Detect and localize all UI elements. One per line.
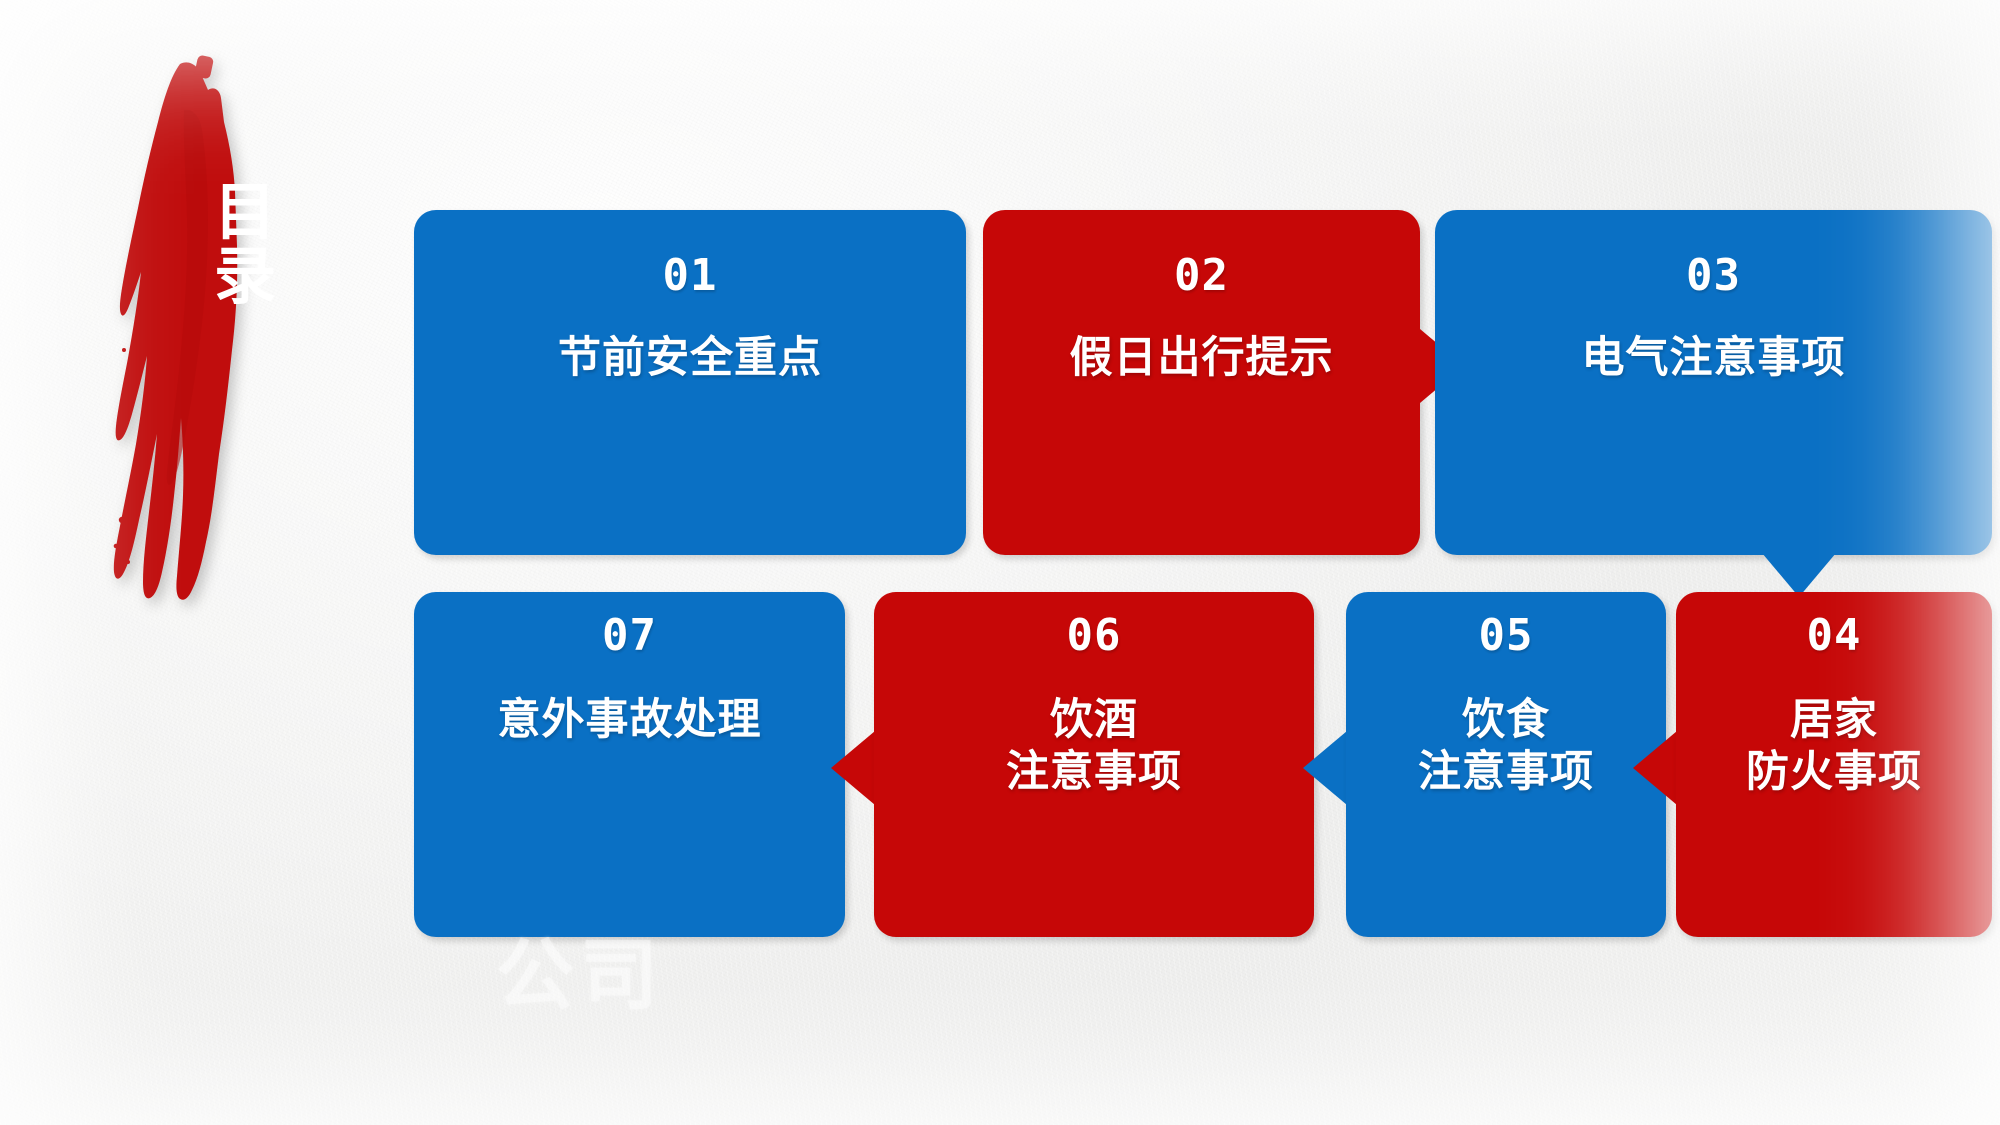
- brush-stroke-title-block: 目 录: [88, 50, 278, 610]
- toc-card-07-label: 意外事故处理: [498, 694, 762, 746]
- toc-card-04-number: 04: [1807, 614, 1862, 658]
- page-title-vertical: 目 录: [88, 128, 278, 358]
- toc-card-06[interactable]: 06 饮酒 注意事项: [874, 592, 1314, 937]
- toc-card-07-number: 07: [602, 614, 657, 658]
- toc-card-03-label: 电气注意事项: [1582, 332, 1846, 384]
- toc-card-02-number: 02: [1174, 254, 1229, 298]
- toc-card-01[interactable]: 01 节前安全重点: [414, 210, 966, 555]
- arrow-05-to-06-icon: [1303, 731, 1347, 805]
- edge-vignette-overlay: [0, 0, 2000, 1125]
- paper-texture-overlay: [0, 0, 2000, 1125]
- toc-card-07[interactable]: 07 意外事故处理: [414, 592, 845, 937]
- toc-card-05-label: 饮食 注意事项: [1418, 694, 1594, 799]
- toc-card-02-label: 假日出行提示: [1070, 332, 1334, 384]
- toc-card-01-number: 01: [663, 254, 718, 298]
- toc-card-06-label: 饮酒 注意事项: [1006, 694, 1182, 799]
- toc-card-04[interactable]: 04 居家 防火事项: [1676, 592, 1992, 937]
- arrow-06-to-07-icon: [831, 731, 875, 805]
- toc-card-06-number: 06: [1067, 614, 1122, 658]
- toc-card-01-label: 节前安全重点: [558, 332, 822, 384]
- title-char-1: 目: [199, 179, 278, 243]
- title-char-2: 录: [199, 243, 278, 307]
- arrow-04-to-05-icon: [1633, 731, 1677, 805]
- toc-card-04-label: 居家 防火事项: [1746, 694, 1922, 799]
- toc-card-05[interactable]: 05 饮食 注意事项: [1346, 592, 1666, 937]
- background-watermark: 公司: [430, 930, 730, 1020]
- toc-card-02[interactable]: 02 假日出行提示: [983, 210, 1420, 555]
- toc-card-03[interactable]: 03 电气注意事项: [1435, 210, 1992, 555]
- toc-card-05-number: 05: [1479, 614, 1534, 658]
- toc-card-03-number: 03: [1686, 254, 1741, 298]
- arrow-03-to-04-icon: [1762, 553, 1836, 597]
- slide-canvas: 目 录 01 节前安全重点 02 假日出行提示 03 电气注意事项 07 意外事…: [0, 0, 2000, 1125]
